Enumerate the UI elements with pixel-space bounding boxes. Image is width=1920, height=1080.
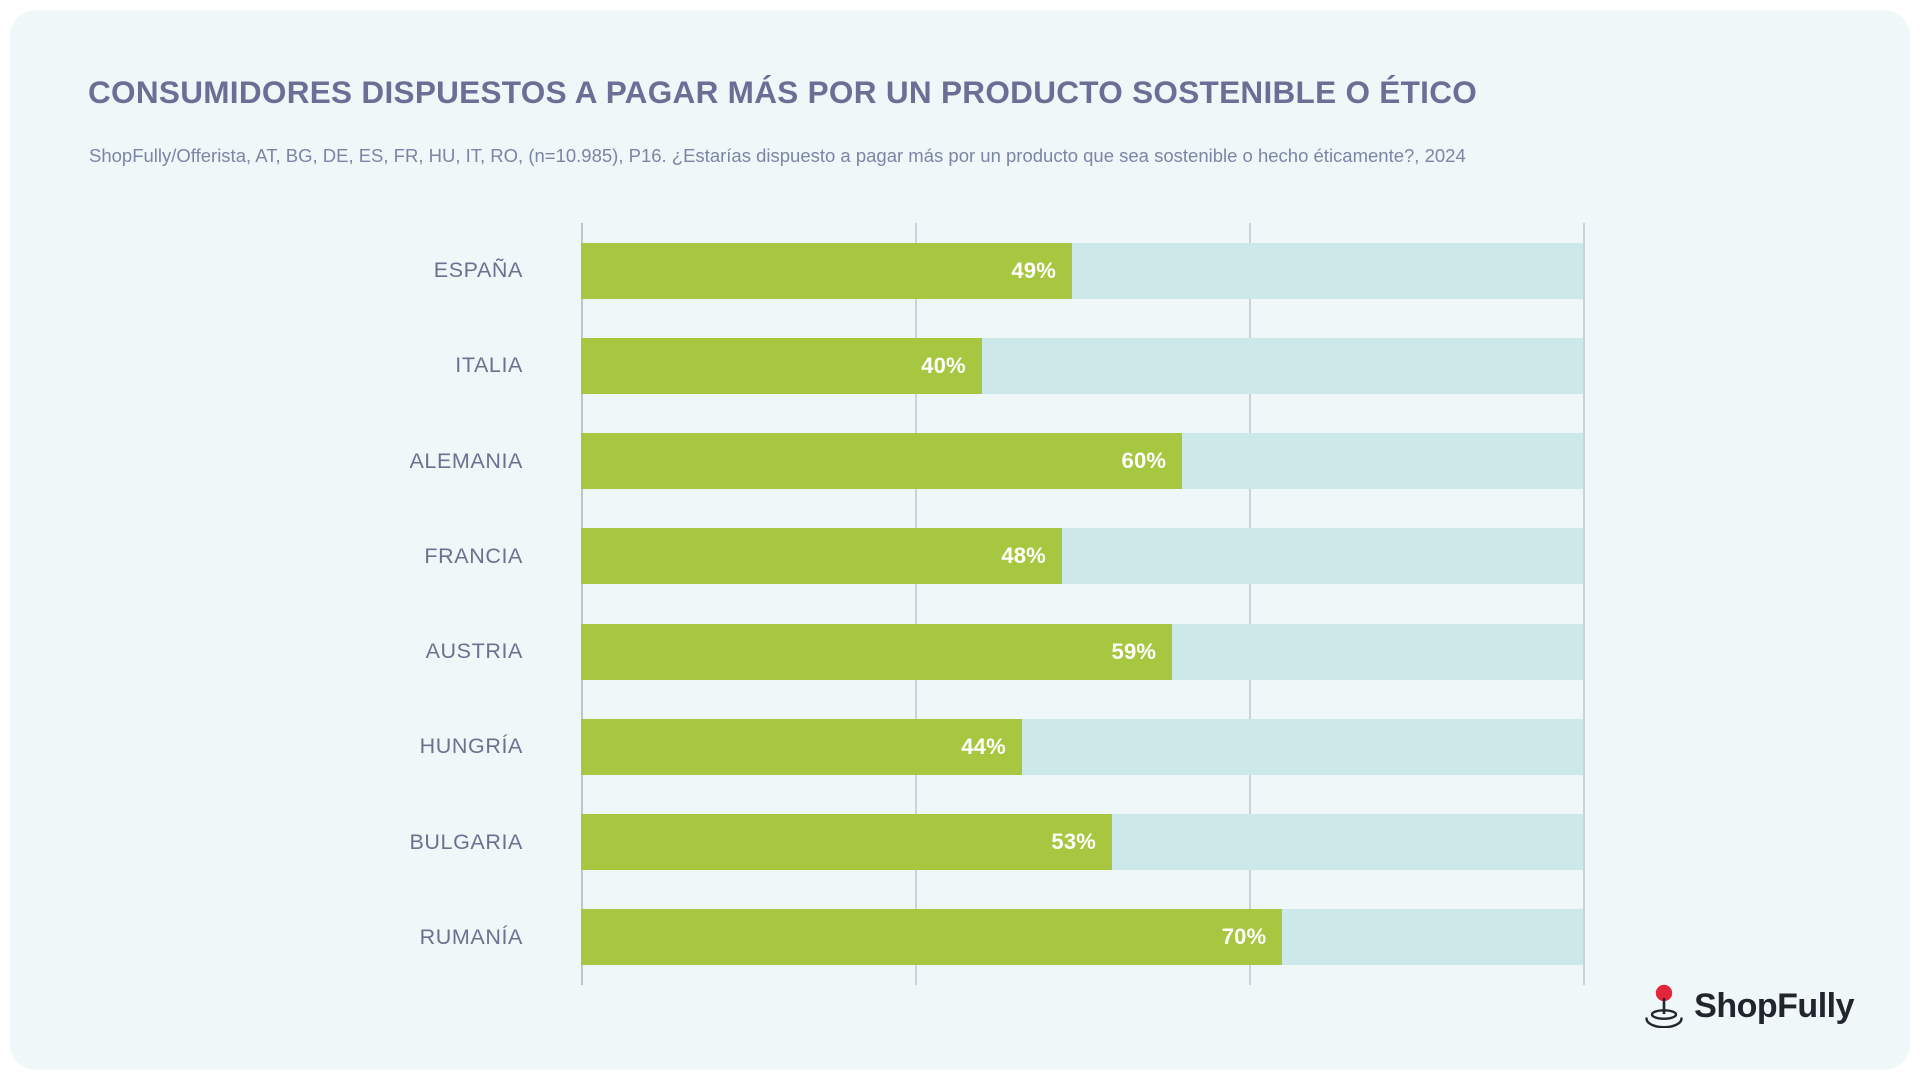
bar-value-label: 44%: [581, 719, 1006, 775]
category-label: RUMANÍA: [10, 909, 555, 965]
category-label-text: ESPAÑA: [434, 258, 523, 283]
bar-row[interactable]: 49%: [581, 243, 1583, 299]
category-label-text: AUSTRIA: [426, 639, 523, 664]
bar-value-label: 60%: [581, 433, 1166, 489]
category-axis: ESPAÑAITALIAALEMANIAFRANCIAAUSTRIAHUNGRÍ…: [10, 223, 555, 985]
category-label-text: FRANCIA: [424, 544, 523, 569]
category-label: BULGARIA: [10, 814, 555, 870]
bar-value-label: 49%: [581, 243, 1056, 299]
chart-plot-area: 49%40%60%48%59%44%53%70%: [581, 223, 1583, 985]
category-label-text: HUNGRÍA: [420, 734, 523, 759]
category-label: ITALIA: [10, 338, 555, 394]
category-label-text: BULGARIA: [409, 830, 523, 855]
bar-row[interactable]: 70%: [581, 909, 1583, 965]
category-label: HUNGRÍA: [10, 719, 555, 775]
bar-value-label: 70%: [581, 909, 1266, 965]
bar-row[interactable]: 60%: [581, 433, 1583, 489]
category-label-text: RUMANÍA: [420, 925, 523, 950]
bar-value-label: 48%: [581, 528, 1046, 584]
category-label-text: ALEMANIA: [409, 449, 523, 474]
bar-row[interactable]: 59%: [581, 624, 1583, 680]
brand-name: ShopFully: [1694, 987, 1854, 1026]
chart-card: CONSUMIDORES DISPUESTOS A PAGAR MÁS POR …: [10, 10, 1910, 1070]
bar-row[interactable]: 53%: [581, 814, 1583, 870]
bar-row[interactable]: 40%: [581, 338, 1583, 394]
category-label: FRANCIA: [10, 528, 555, 584]
category-label: ALEMANIA: [10, 433, 555, 489]
category-label-text: ITALIA: [455, 353, 523, 378]
shopfully-logo: ShopFully: [1643, 984, 1854, 1028]
bar-value-label: 59%: [581, 624, 1156, 680]
chart-subtitle: ShopFully/Offerista, AT, BG, DE, ES, FR,…: [89, 144, 1869, 168]
bar-value-label: 40%: [581, 338, 966, 394]
bar-value-label: 53%: [581, 814, 1096, 870]
bar-row[interactable]: 48%: [581, 528, 1583, 584]
gridline: [1583, 223, 1585, 985]
bar-row[interactable]: 44%: [581, 719, 1583, 775]
category-label: ESPAÑA: [10, 243, 555, 299]
category-label: AUSTRIA: [10, 624, 555, 680]
shopfully-pin-icon: [1643, 984, 1685, 1028]
page-title: CONSUMIDORES DISPUESTOS A PAGAR MÁS POR …: [88, 74, 1848, 110]
